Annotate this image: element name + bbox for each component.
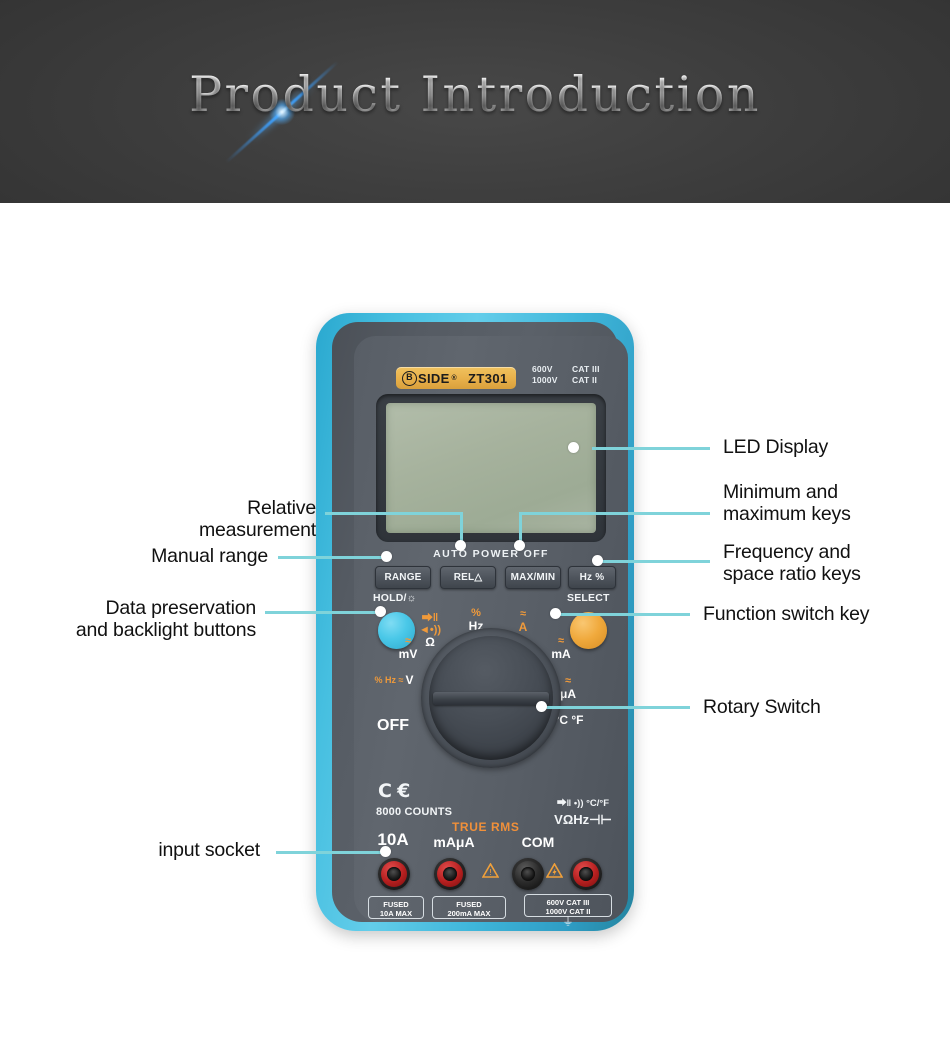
leader-relative-measurement (325, 512, 463, 515)
callout-relative-line2: measurement (100, 519, 316, 541)
brand-b-mark: B (402, 371, 417, 386)
callout-manual-range-line1: Manual range (80, 545, 268, 567)
dial-label-volt: V (405, 674, 413, 687)
v-ohm-hz-label: VΩHz⊣⊢ (544, 812, 622, 828)
leader-dot-frequency (592, 555, 603, 566)
leader-dot-min-max (514, 540, 525, 551)
ac-wave-icon: ≈ (392, 636, 424, 648)
callout-manual-range: Manual range (80, 545, 268, 567)
dial-mark-mv: ≈ mV (392, 636, 424, 660)
fuse-label-200ma: FUSED 200mA MAX (432, 896, 506, 919)
callout-rotary-switch-line1: Rotary Switch (703, 696, 943, 718)
leader-min-max-keys (519, 512, 710, 515)
jack-com[interactable] (512, 858, 544, 890)
callout-input-socket-line1: input socket (100, 839, 260, 861)
leader-frequency-keys (600, 560, 710, 563)
dial-label-mv: mV (392, 648, 424, 661)
maxmin-button[interactable]: MAX/MIN (505, 566, 561, 589)
jack-v-ohm-hz[interactable] (570, 858, 602, 890)
rating-voltage-1: 600V (532, 364, 572, 375)
callout-data-preservation-line1: Data preservation (40, 597, 256, 619)
callout-function-switch: Function switch key (703, 603, 943, 625)
leader-dot-led-display (568, 442, 579, 453)
leader-input-socket (276, 851, 386, 854)
jack-label-ma-ua: mAμA (424, 834, 484, 850)
percent-icon: % (458, 608, 494, 620)
jack-10a[interactable] (378, 858, 410, 890)
rotary-switch[interactable] (421, 628, 561, 768)
brand-text: SIDE (418, 371, 450, 386)
select-label: SELECT (567, 592, 610, 604)
svg-text:!: ! (489, 868, 492, 877)
ac-wave-icon: ≈ (506, 609, 540, 621)
multimeter-device: BSIDE® ZT301 600VCAT III 1000VCAT II AUT… (316, 313, 634, 931)
diode-continuity-icon: ⮕‖ ◄•)) (410, 613, 450, 636)
measurement-symbols: ⮕‖ •)) °C/°F (544, 798, 622, 809)
leader-dot-manual-range (381, 551, 392, 562)
brand-name: BSIDE® (402, 371, 457, 386)
rating-label: 600VCAT III 1000VCAT II (532, 364, 624, 385)
dial-mark-volt: % Hz ≈ V (372, 674, 416, 687)
leader-data-preservation (265, 611, 382, 614)
jack-ma-ua[interactable] (434, 858, 466, 890)
hz-percent-button[interactable]: Hz % (568, 566, 616, 589)
dial-mark-amp: ≈ A (506, 609, 540, 633)
ce-mark-icon: C € (378, 780, 411, 802)
rating-voltage-2: 1000V (532, 375, 572, 386)
rel-button[interactable]: REL△ (440, 566, 496, 589)
ac-wave-icon: ≈ (544, 636, 578, 648)
fuse-200ma-line1: FUSED (433, 900, 505, 909)
callout-frequency-line1: Frequency and (723, 541, 943, 563)
device-front-panel: BSIDE® ZT301 600VCAT III 1000VCAT II AUT… (354, 336, 628, 922)
lcd-bezel (376, 394, 606, 542)
callout-data-preservation: Data preservation and backlight buttons (40, 597, 256, 641)
leader-dot-relative (455, 540, 466, 551)
callout-input-socket: input socket (100, 839, 260, 861)
warning-triangle-icon: ! (482, 863, 499, 878)
callout-function-switch-line1: Function switch key (703, 603, 943, 625)
leader-dot-input-socket (380, 846, 391, 857)
range-button[interactable]: RANGE (375, 566, 431, 589)
callout-min-max-line1: Minimum and (723, 481, 943, 503)
warning-high-voltage-icon (546, 863, 563, 878)
callout-relative-line1: Relative (100, 497, 316, 519)
model-number: ZT301 (468, 371, 508, 386)
counts-label: 8000 COUNTS (376, 806, 452, 818)
auto-power-off-label: AUTO POWER OFF (354, 548, 628, 560)
registered-icon: ® (452, 375, 457, 382)
rating-cat-2: CAT II (572, 375, 597, 385)
rating-cat-1: CAT III (572, 364, 600, 374)
rating-bottom-line2: 1000V CAT II (525, 907, 611, 916)
leader-manual-range (278, 556, 386, 559)
rating-bottom-label: 600V CAT III 1000V CAT II (524, 894, 612, 917)
jack-label-com: COM (512, 834, 564, 850)
true-rms-label: TRUE RMS (452, 820, 519, 834)
callout-relative-measurement: Relative measurement (100, 497, 316, 541)
rating-bottom-line1: 600V CAT III (525, 898, 611, 907)
fuse-200ma-line2: 200mA MAX (433, 909, 505, 918)
fuse-10a-line2: 10A MAX (369, 909, 423, 918)
device-body: BSIDE® ZT301 600VCAT III 1000VCAT II AUT… (332, 322, 618, 922)
page-title: Product Introduction (0, 66, 950, 123)
leader-rotary-switch (545, 706, 690, 709)
callout-rotary-switch: Rotary Switch (703, 696, 943, 718)
callout-min-max-keys: Minimum and maximum keys (723, 481, 943, 525)
percent-hz-icon: % Hz ≈ (375, 676, 404, 685)
callout-data-preservation-line2: and backlight buttons (40, 619, 256, 641)
leader-dot-function-switch (550, 608, 561, 619)
dial-mark-ma: ≈ mA (544, 636, 578, 660)
leader-led-display (592, 447, 710, 450)
callout-led-display-line1: LED Display (723, 436, 943, 458)
callout-frequency-keys: Frequency and space ratio keys (723, 541, 943, 585)
leader-dot-data-preservation (375, 606, 386, 617)
fuse-label-10a: FUSED 10A MAX (368, 896, 424, 919)
callout-frequency-line2: space ratio keys (723, 563, 943, 585)
callout-led-display: LED Display (723, 436, 943, 458)
leader-function-switch (560, 613, 690, 616)
dial-label-off: OFF (370, 718, 416, 735)
brand-badge: BSIDE® ZT301 (396, 367, 516, 389)
rotary-knob[interactable] (429, 636, 553, 760)
fuse-10a-line1: FUSED (369, 900, 423, 909)
ground-symbol-icon: ⏚ (524, 917, 612, 928)
page-header-banner: Product Introduction (0, 0, 950, 203)
leader-dot-rotary-switch (536, 701, 547, 712)
callout-min-max-line2: maximum keys (723, 503, 943, 525)
hold-backlight-label: HOLD/☼ (373, 592, 417, 604)
rotary-pointer (433, 692, 549, 705)
jack-label-10a: 10A (370, 830, 416, 850)
